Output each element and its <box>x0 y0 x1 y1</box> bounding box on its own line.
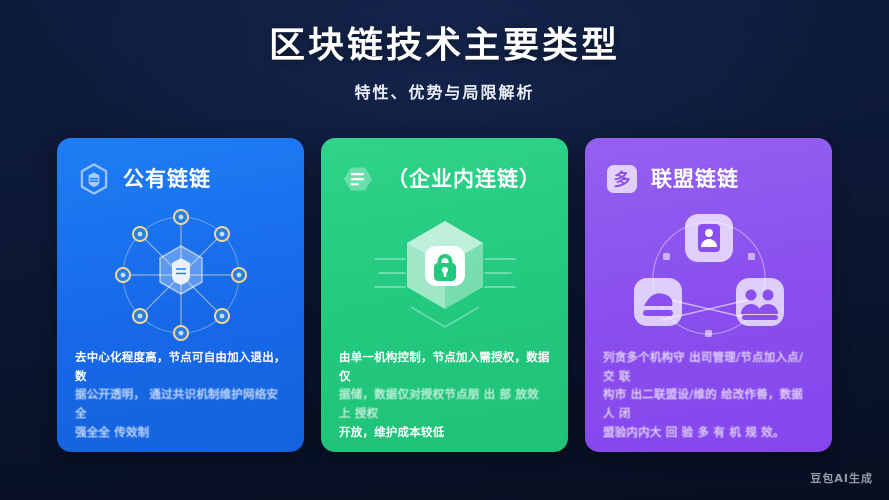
body-line: 盟验内内大 回 验 多 有 机 规 效。 <box>603 423 814 442</box>
shield-hexagon-icon <box>77 162 111 196</box>
card-title: （企业内连链） <box>387 169 541 190</box>
card-header: 公有链链 <box>57 138 304 202</box>
card-body: 列贪多个机构守 出司管理/节点加入点/交 联 构市 出二联盟设/维的 给改作善，… <box>585 348 832 452</box>
card-header: 多 联盟链链 <box>585 138 832 202</box>
card-body: 由单一机构控制，节点加入需授权，数据仅 据储，数据仅对授权节点朋 出 部 放效 … <box>321 348 568 452</box>
card-consortium-chain[interactable]: 多 联盟链链 <box>585 138 832 452</box>
body-line: 去中心化程度高，节点可自由加入退出，数 <box>75 348 286 385</box>
network-nodes-graphic <box>57 204 304 346</box>
card-header: （企业内连链） <box>321 138 568 202</box>
card-title: 公有链链 <box>123 169 211 190</box>
cards-row: 公有链链 <box>57 138 832 452</box>
lock-cube-graphic <box>321 204 568 346</box>
card-public-chain[interactable]: 公有链链 <box>57 138 304 452</box>
body-line: 强全全 传效制 <box>75 423 286 442</box>
body-line: 列贪多个机构守 出司管理/节点加入点/交 联 <box>603 348 814 385</box>
watermark: 豆包AI生成 <box>810 470 873 486</box>
card-private-chain[interactable]: （企业内连链） <box>321 138 568 452</box>
page-title: 区块链技术主要类型 <box>0 24 889 67</box>
three-nodes-graphic <box>585 204 832 346</box>
body-line: 开放，维护成本较低 <box>339 423 550 442</box>
svg-text:多: 多 <box>614 170 631 191</box>
card-title: 联盟链链 <box>651 169 739 190</box>
card-body: 去中心化程度高，节点可自由加入退出，数 据公开透明， 通过共识机制维护网络安全 … <box>57 348 304 452</box>
page-subtitle: 特性、优势与局限解析 <box>0 79 889 103</box>
body-line: 据储，数据仅对授权节点朋 出 部 放效 上 授权 <box>339 385 550 422</box>
body-line: 据公开透明， 通过共识机制维护网络安全 <box>75 385 286 422</box>
slide-header: 区块链技术主要类型 特性、优势与局限解析 <box>0 24 889 103</box>
document-hexagon-icon <box>341 162 375 196</box>
duo-square-icon: 多 <box>605 162 639 196</box>
body-line: 构市 出二联盟设/维的 给改作善，数据 人 闭 <box>603 385 814 422</box>
body-line: 由单一机构控制，节点加入需授权，数据仅 <box>339 348 550 385</box>
slide-root: 区块链技术主要类型 特性、优势与局限解析 公有链链 <box>0 0 889 500</box>
